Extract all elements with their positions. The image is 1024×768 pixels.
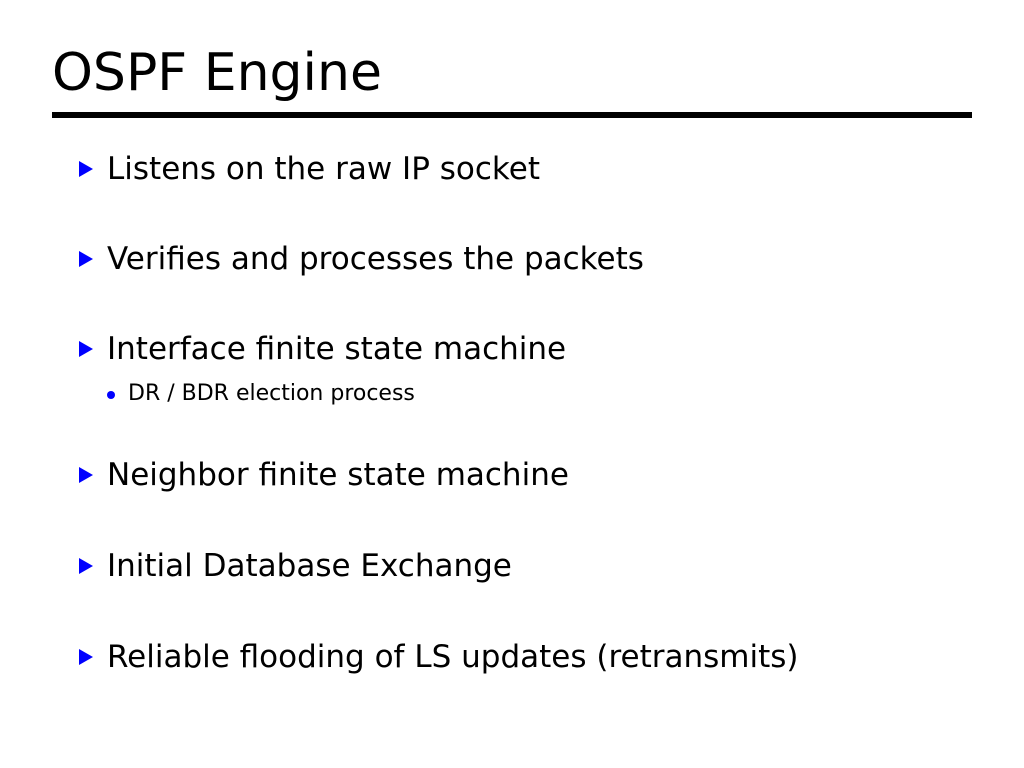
- slide-title-block: OSPF Engine: [52, 44, 972, 102]
- list-item-label: Neighbor finite state machine: [107, 456, 569, 494]
- list-item-label: Reliable flooding of LS updates (retrans…: [107, 638, 799, 676]
- spacer: [76, 506, 976, 547]
- list-item[interactable]: Reliable flooding of LS updates (retrans…: [76, 638, 976, 688]
- triangle-right-icon: [79, 558, 93, 574]
- presentation-slide: OSPF Engine Listens on the raw IP socket…: [0, 0, 1024, 768]
- list-item-label: Interface finite state machine: [107, 330, 566, 368]
- list-item[interactable]: Interface finite state machine: [76, 330, 976, 380]
- spacer: [76, 200, 976, 240]
- triangle-right-icon: [79, 251, 93, 267]
- slide-body-bullet-list: Listens on the raw IP socket Verifies an…: [76, 150, 976, 688]
- list-item-label: Listens on the raw IP socket: [107, 150, 540, 188]
- list-item-label: Verifies and processes the packets: [107, 240, 644, 278]
- list-item[interactable]: Verifies and processes the packets: [76, 240, 976, 290]
- page-title: OSPF Engine: [52, 44, 972, 102]
- list-item[interactable]: Neighbor finite state machine: [76, 456, 976, 506]
- list-item[interactable]: Initial Database Exchange: [76, 547, 976, 597]
- spacer: [76, 597, 976, 638]
- title-underline-rule: [52, 112, 972, 118]
- triangle-right-icon: [79, 467, 93, 483]
- sub-list-item-label: DR / BDR election process: [128, 380, 415, 408]
- triangle-right-icon: [79, 161, 93, 177]
- dot-icon: [107, 391, 115, 399]
- list-item[interactable]: Listens on the raw IP socket: [76, 150, 976, 200]
- triangle-right-icon: [79, 341, 93, 357]
- sub-list-item[interactable]: DR / BDR election process: [76, 380, 976, 456]
- list-item-label: Initial Database Exchange: [107, 547, 512, 585]
- spacer: [76, 290, 976, 330]
- triangle-right-icon: [79, 649, 93, 665]
